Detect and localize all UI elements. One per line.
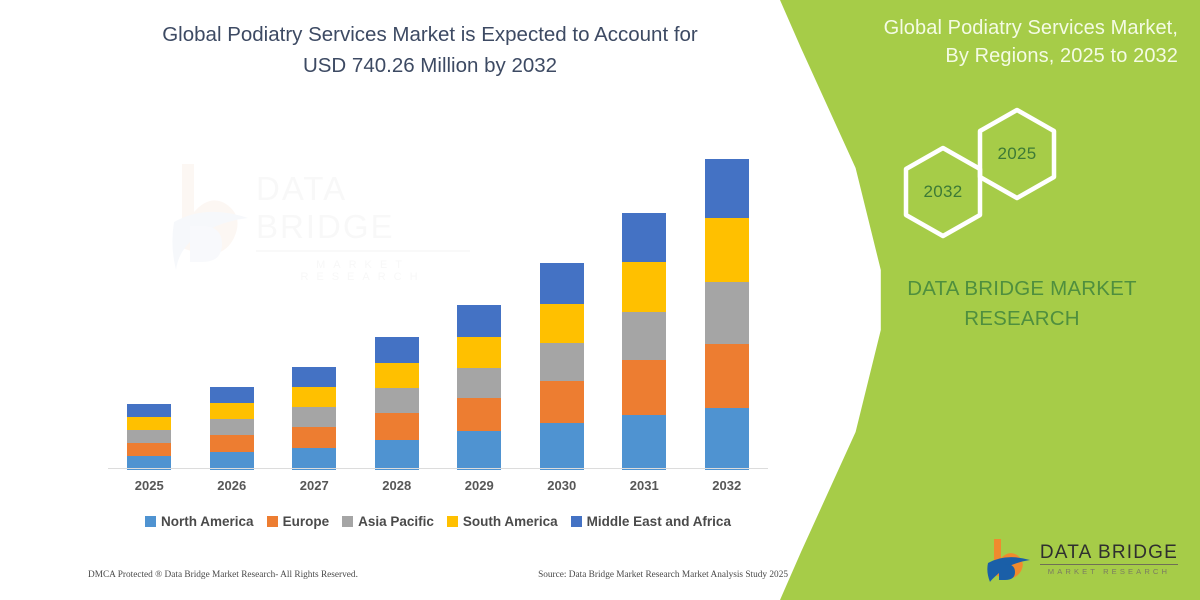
hexagon-badge-2025-label: 2025 [997,144,1036,164]
legend-item[interactable]: Europe [267,514,330,529]
panel-brand-line2: RESEARCH [964,307,1080,330]
legend-item[interactable]: North America [145,514,254,529]
brand-logo-mark-icon [986,536,1032,582]
bar-segment [375,337,419,363]
panel-brand-text: DATA BRIDGE MARKET RESEARCH [872,274,1172,333]
brand-logo-sub: MARKET RESEARCH [1040,568,1178,576]
x-axis-tick-label: 2029 [457,478,501,493]
bar-column [457,305,501,470]
legend-item[interactable]: Middle East and Africa [571,514,731,529]
brand-logo-text: DATA BRIDGE MARKET RESEARCH [1040,543,1178,576]
x-axis-tick-label: 2028 [375,478,419,493]
bar-segment [210,387,254,403]
bar-column [127,404,171,470]
hexagon-badges: 2032 2025 [900,118,1110,228]
bar-segment [292,427,336,448]
bar-segment [540,381,584,423]
bar-segment [127,417,171,430]
x-axis-labels: 20252026202720282029203020312032 [108,478,768,493]
bar-segment [375,413,419,440]
bar-segment [622,360,666,415]
chart-legend: North AmericaEuropeAsia PacificSouth Ame… [108,514,768,529]
stacked-bar-chart [108,140,768,470]
panel-brand-line1: DATA BRIDGE MARKET [907,277,1137,300]
bar-segment [375,440,419,470]
legend-label: South America [463,514,558,529]
bar-segment [457,305,501,337]
bar-column [375,337,419,470]
bar-column [210,387,254,470]
legend-item[interactable]: Asia Pacific [342,514,434,529]
legend-label: North America [161,514,254,529]
panel-title-line2: By Regions, 2025 to 2032 [818,42,1178,70]
bar-segment [375,388,419,413]
bar-segment [127,443,171,456]
legend-label: Asia Pacific [358,514,434,529]
bar-segment [705,159,749,218]
legend-label: Middle East and Africa [587,514,731,529]
bar-segment [210,435,254,452]
chart-headline: Global Podiatry Services Market is Expec… [110,20,750,82]
legend-swatch [145,516,156,527]
bar-segment [457,368,501,398]
legend-swatch [267,516,278,527]
bar-segment [127,404,171,417]
legend-swatch [571,516,582,527]
x-axis-tick-label: 2032 [705,478,749,493]
bar-column [622,213,666,470]
hexagon-badge-2032-label: 2032 [923,182,962,202]
legend-label: Europe [283,514,330,529]
bar-segment [540,343,584,381]
x-axis-line [108,468,768,469]
bar-segment [622,312,666,360]
bar-segment [292,367,336,387]
brand-logo-main: DATA BRIDGE [1040,543,1178,565]
bar-segment [540,263,584,304]
bar-segment [705,218,749,282]
bar-segment [210,419,254,435]
x-axis-tick-label: 2031 [622,478,666,493]
bar-segment [622,262,666,312]
b-swoosh-icon [986,536,1032,582]
bar-segment [540,423,584,470]
x-axis-tick-label: 2030 [540,478,584,493]
bar-segment [292,387,336,407]
bar-segment [705,408,749,470]
bar-group [108,140,768,470]
legend-item[interactable]: South America [447,514,558,529]
footer-source: Source: Data Bridge Market Research Mark… [538,570,788,580]
x-axis-tick-label: 2026 [210,478,254,493]
bar-segment [375,363,419,388]
bar-segment [705,282,749,344]
legend-swatch [342,516,353,527]
bar-segment [705,344,749,408]
x-axis-tick-label: 2025 [127,478,171,493]
bar-segment [457,431,501,470]
bar-segment [622,213,666,262]
bar-segment [292,407,336,427]
bar-segment [292,448,336,470]
footer-copyright: DMCA Protected ® Data Bridge Market Rese… [88,570,358,580]
legend-swatch [447,516,458,527]
bar-column [705,159,749,470]
chart-headline-line2: USD 740.26 Million by 2032 [110,51,750,82]
bar-column [292,367,336,470]
chart-headline-line1: Global Podiatry Services Market is Expec… [162,23,698,46]
bar-segment [127,430,171,443]
brand-logo: DATA BRIDGE MARKET RESEARCH [986,536,1178,582]
bar-column [540,263,584,470]
bar-segment [457,398,501,431]
bar-segment [457,337,501,368]
x-axis-tick-label: 2027 [292,478,336,493]
hexagon-badge-2025: 2025 [974,106,1060,202]
infographic-canvas: Global Podiatry Services Market is Expec… [0,0,1200,600]
panel-title: Global Podiatry Services Market, By Regi… [818,14,1178,71]
bar-segment [540,304,584,343]
footer: DMCA Protected ® Data Bridge Market Rese… [88,570,788,580]
panel-title-line1: Global Podiatry Services Market, [884,17,1178,39]
bar-segment [210,403,254,419]
bar-segment [622,415,666,470]
